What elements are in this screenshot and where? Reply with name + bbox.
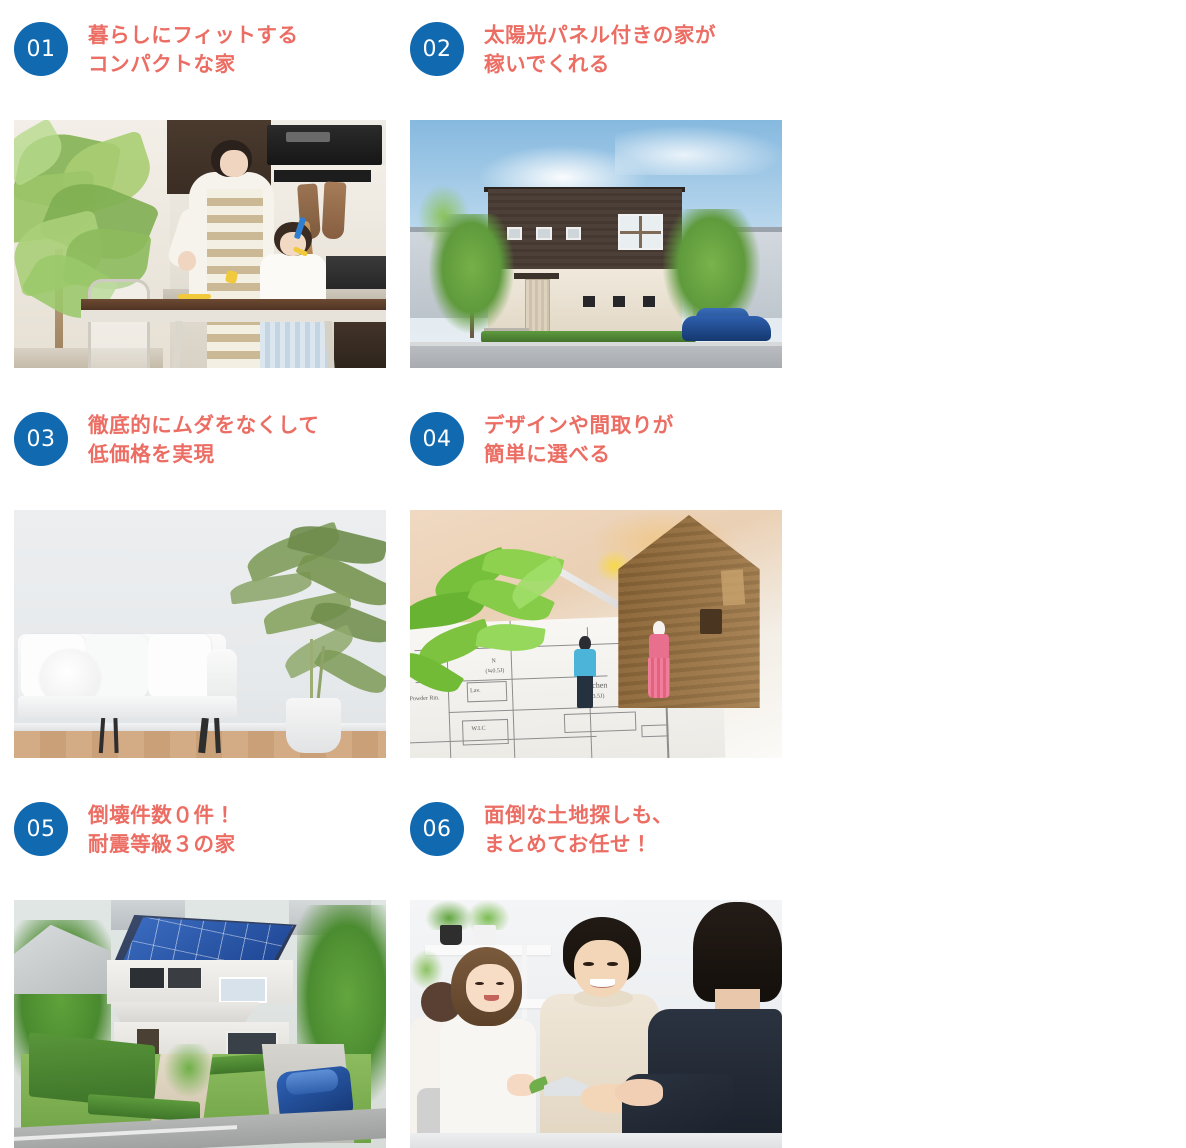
family-consultation-photo (410, 900, 782, 1148)
photo-plant-pot (473, 925, 495, 945)
feature-card-header: 02 太陽光パネル付きの家が 稼いでくれる (410, 20, 782, 100)
figure-bottom (577, 676, 593, 708)
feature-title: 太陽光パネル付きの家が 稼いでくれる (484, 20, 716, 79)
feature-card-header: 01 暮らしにフィットする コンパクトな家 (14, 20, 386, 100)
photo-oven-mitt-right (321, 181, 346, 239)
photo-plant-pot (440, 925, 462, 945)
photo-mother-face (466, 964, 514, 1011)
window-mullion-horizontal (620, 231, 661, 234)
photo-child-skirt (260, 321, 331, 368)
render-second-floor-window (219, 977, 268, 1003)
wooden-house-edge (721, 569, 746, 605)
white-plant-pot (286, 698, 342, 753)
photo-yellow-item (178, 294, 211, 299)
feature-number-badge: 03 (14, 412, 68, 466)
plan-room-box (641, 725, 669, 738)
photo-agent-hair (693, 902, 782, 1001)
feature-number-badge: 06 (410, 802, 464, 856)
floor-plan-with-wooden-house-model-photo: Bathroom Powder Rm. Lav. W.I.C N (≒0.5J)… (410, 510, 782, 758)
feature-title: 徹底的にムダをなくして 低価格を実現 (88, 410, 319, 469)
feature-number-badge: 05 (14, 802, 68, 856)
feature-title: デザインや間取りが 簡単に選べる (484, 410, 674, 469)
feature-card-header: 06 面倒な土地探しも、 まとめてお任せ！ (410, 800, 782, 880)
feature-card-header: 03 徹底的にムダをなくして 低価格を実現 (14, 410, 386, 490)
render-road (410, 346, 782, 368)
render-small-window (566, 227, 581, 240)
plan-label-north: N (491, 659, 496, 665)
photo-man-eye (607, 962, 618, 966)
wooden-house-window (700, 609, 722, 634)
photo-chair (88, 279, 150, 368)
render-lower-window (641, 294, 657, 309)
photo-table-apron (81, 310, 386, 322)
photo-man-mouth (590, 979, 614, 987)
feature-title: 暮らしにフィットする コンパクトな家 (88, 20, 299, 79)
render-blue-car (682, 316, 771, 341)
feature-card-05[interactable]: 05 倒壊件数０件！ 耐震等級３の家 (14, 800, 386, 1148)
photo-man-face (574, 940, 630, 997)
photo-range-hood (267, 125, 382, 165)
palm-frond (314, 642, 386, 701)
solar-panel-array (114, 917, 293, 964)
photo-hood-panel (286, 132, 331, 142)
minimal-white-living-room-photo (14, 510, 386, 758)
photo-mother-face (220, 150, 248, 177)
render-cloud (615, 125, 782, 175)
feature-title: 面倒な土地探しも、 まとめてお任せ！ (484, 800, 673, 859)
plan-label-north-size: (≒0.5J) (485, 667, 504, 675)
feature-card-01[interactable]: 01 暮らしにフィットする コンパクトな家 (14, 20, 386, 368)
feature-grid-page: 01 暮らしにフィットする コンパクトな家 (0, 0, 1186, 791)
solar-panel-house-aerial-render (14, 900, 386, 1148)
photo-mother-mouth (484, 995, 499, 1000)
photo-table-leg (172, 321, 183, 368)
photo-stove (326, 256, 386, 291)
feature-card-06[interactable]: 06 面倒な土地探しも、 まとめてお任せ！ (410, 800, 782, 1148)
feature-cards-grid: 01 暮らしにフィットする コンパクトな家 (14, 20, 1172, 1148)
photo-man-eye (583, 962, 594, 966)
feature-title: 倒壊件数０件！ 耐震等級３の家 (88, 800, 236, 859)
render-lower-window (611, 294, 627, 309)
photo-table-top (81, 299, 386, 310)
plan-room-box (563, 711, 636, 733)
plan-label-lav: Lav. (470, 688, 481, 694)
feature-number-badge: 02 (410, 22, 464, 76)
feature-card-header: 05 倒壊件数０件！ 耐震等級３の家 (14, 800, 386, 880)
plan-room-box (461, 719, 509, 746)
photo-table (410, 1133, 782, 1148)
miniature-figure-woman (648, 634, 670, 698)
photo-agent-hand (615, 1079, 663, 1106)
render-second-floor-window (129, 967, 164, 989)
figure-top (574, 649, 596, 678)
sofa-seat (18, 696, 237, 718)
feature-card-header: 04 デザインや間取りが 簡単に選べる (410, 410, 782, 490)
plan-label-wic: W.I.C (471, 725, 485, 731)
render-grid-window (618, 214, 663, 250)
render-garden-tree (163, 1044, 215, 1099)
modern-house-exterior-render (410, 120, 782, 368)
feature-number-badge: 01 (14, 22, 68, 76)
feature-number-badge: 04 (410, 412, 464, 466)
miniature-figure-man (574, 649, 596, 709)
sofa-cushion (148, 634, 211, 698)
render-small-window (536, 227, 551, 240)
kitchen-mother-and-child-photo (14, 120, 386, 368)
render-second-floor-window (167, 967, 202, 989)
figure-top (649, 634, 669, 660)
render-lower-window (581, 294, 597, 309)
figure-bottom (648, 658, 670, 698)
feature-card-04[interactable]: 04 デザインや間取りが 簡単に選べる (410, 410, 782, 758)
photo-hood-base (274, 170, 371, 182)
feature-card-02[interactable]: 02 太陽光パネル付きの家が 稼いでくれる (410, 20, 782, 368)
render-tree-foliage (429, 214, 515, 333)
plan-label-powder-room: Powder Rm. (410, 695, 439, 702)
feature-card-03[interactable]: 03 徹底的にムダをなくして 低価格を実現 (14, 410, 386, 758)
